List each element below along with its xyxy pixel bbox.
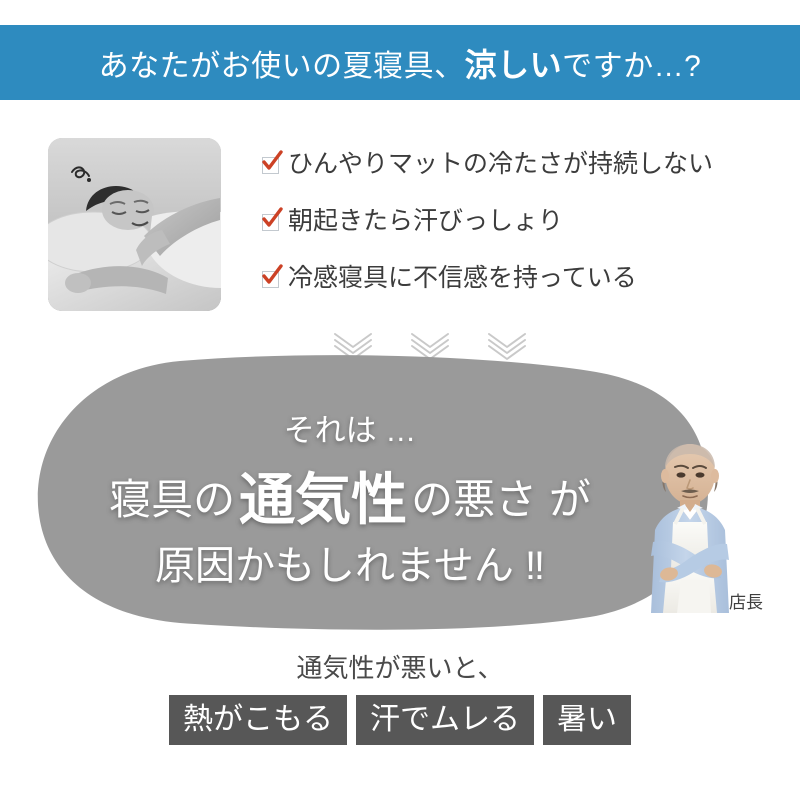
header-title-highlight: 涼しい bbox=[465, 47, 563, 83]
list-item: ひんやりマットの冷たさが持続しない bbox=[262, 148, 762, 205]
problem-checklist: ひんやりマットの冷たさが持続しない 朝起きたら汗びっしょり 冷感寝具に不信感を持… bbox=[262, 148, 762, 319]
checkmark-icon bbox=[262, 214, 279, 231]
list-item: 冷感寝具に不信感を持っている bbox=[262, 262, 762, 319]
checklist-item-label: 冷感寝具に不信感を持っている bbox=[288, 262, 637, 294]
consequence-tag: 汗でムレる bbox=[356, 695, 534, 745]
list-item: 朝起きたら汗びっしょり bbox=[262, 205, 762, 262]
header-banner: あなたがお使いの夏寝具、涼しいですか…? bbox=[0, 25, 800, 100]
checkmark-icon bbox=[262, 157, 279, 174]
header-title-suffix: ですか…? bbox=[562, 50, 701, 83]
checkmark-icon bbox=[262, 271, 279, 288]
checklist-item-label: ひんやりマットの冷たさが持続しない bbox=[288, 148, 713, 180]
bottom-lead-text: 通気性が悪いと、 bbox=[0, 648, 800, 685]
consequence-tag-row: 熱がこもる 汗でムレる 暑い bbox=[0, 695, 800, 745]
page-title: あなたがお使いの夏寝具、涼しいですか…? bbox=[99, 40, 702, 86]
header-title-prefix: あなたがお使いの夏寝具、 bbox=[99, 50, 465, 83]
consequence-tag: 熱がこもる bbox=[169, 695, 347, 745]
checklist-item-label: 朝起きたら汗びっしょり bbox=[288, 205, 563, 237]
manager-caption: 店長 bbox=[729, 588, 763, 613]
store-manager-photo bbox=[625, 438, 755, 613]
sleeping-person-photo bbox=[48, 138, 221, 311]
consequence-tag: 暑い bbox=[543, 695, 631, 745]
